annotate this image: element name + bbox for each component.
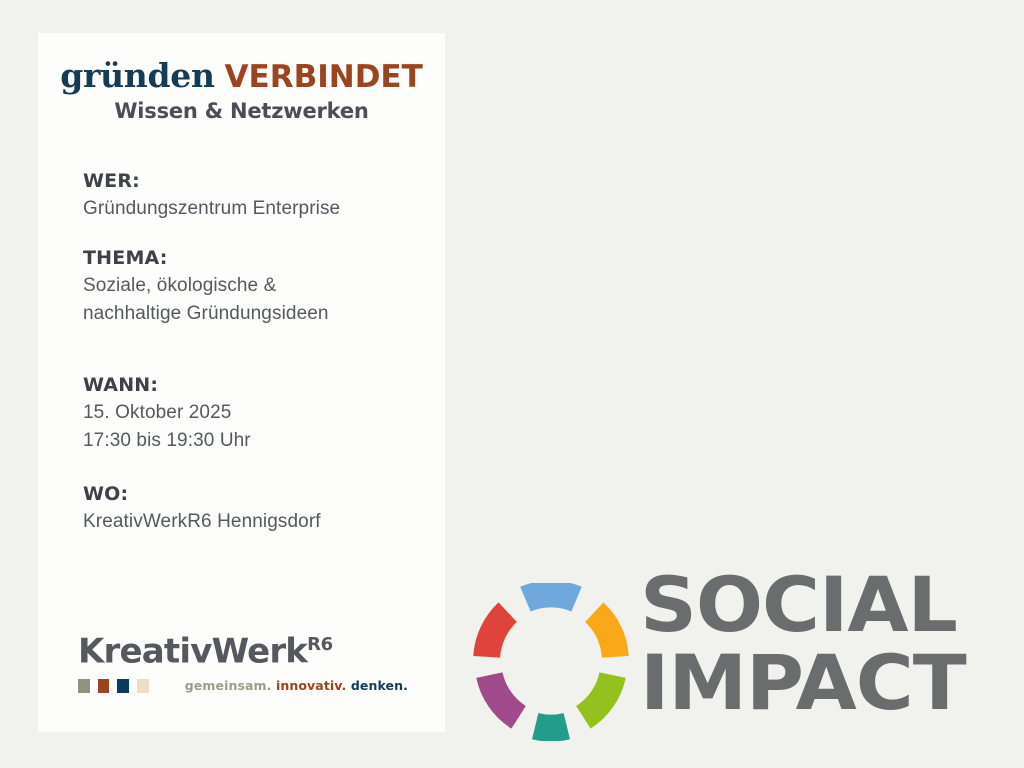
- detail-label-wo: WO:: [83, 481, 433, 507]
- detail-block-wo: WO: KreativWerkR6 Hennigsdorf: [83, 481, 433, 536]
- color-swatch-rust: [98, 679, 110, 693]
- donut-segment-red: [487, 612, 508, 657]
- event-details-list: WER: Gründungszentrum Enterprise THEMA: …: [83, 168, 433, 562]
- social-impact-line-impact: IMPACT: [640, 646, 1024, 720]
- donut-segment-teal: [535, 726, 567, 728]
- slide-canvas: gründen VERBINDET Wissen & Netzwerken WE…: [0, 0, 1024, 768]
- detail-block-wer: WER: Gründungszentrum Enterprise: [83, 168, 433, 223]
- detail-label-wann: WANN:: [83, 372, 433, 398]
- detail-block-wann: WANN: 15. Oktober 2025 17:30 bis 19:30 U…: [83, 372, 433, 455]
- detail-line: Soziale, ökologische &: [83, 272, 433, 300]
- kreativwerk-wordmark-text: KreativWerk: [78, 631, 307, 671]
- flyer-card: gründen VERBINDET Wissen & Netzwerken WE…: [38, 33, 445, 732]
- detail-label-wer: WER:: [83, 168, 433, 194]
- tagline-part-innovativ: innovativ.: [276, 678, 346, 693]
- kreativwerk-color-strip: gemeinsam. innovativ. denken.: [78, 679, 408, 693]
- color-swatch-cream: [137, 679, 149, 693]
- color-swatch-navy: [117, 679, 129, 693]
- color-swatch-sage: [78, 679, 90, 693]
- detail-value-wann: 15. Oktober 2025 17:30 bis 19:30 Uhr: [83, 399, 433, 455]
- donut-segment-green: [583, 675, 612, 717]
- detail-line: Gründungszentrum Enterprise: [83, 195, 433, 223]
- kreativwerk-wordmark: KreativWerkR6: [78, 625, 408, 671]
- donut-segment-blue: [525, 594, 576, 599]
- kreativwerk-superscript-r6: R6: [307, 634, 333, 655]
- donut-segment-purple: [489, 675, 518, 717]
- donut-segment-orange: [594, 612, 615, 657]
- social-impact-logo: SOCIAL IMPACT: [462, 560, 1024, 768]
- detail-block-thema: THEMA: Soziale, ökologische & nachhaltig…: [83, 245, 433, 328]
- detail-value-thema: Soziale, ökologische & nachhaltige Gründ…: [83, 272, 433, 328]
- flyer-brand-header: gründen VERBINDET Wissen & Netzwerken: [38, 57, 445, 124]
- tagline-part-denken: denken.: [351, 678, 408, 693]
- brand-word-gruenden: gründen: [60, 56, 214, 95]
- detail-line: 17:30 bis 19:30 Uhr: [83, 427, 433, 455]
- kreativwerk-tagline: gemeinsam. innovativ. denken.: [185, 679, 408, 693]
- social-impact-line-social: SOCIAL: [640, 568, 1024, 642]
- social-impact-wordmark: SOCIAL IMPACT: [640, 568, 1024, 720]
- brand-logotype: gründen VERBINDET: [38, 57, 445, 96]
- detail-line: 15. Oktober 2025: [83, 399, 433, 427]
- detail-line: KreativWerkR6 Hennigsdorf: [83, 508, 433, 536]
- brand-word-verbindet: VERBINDET: [225, 59, 423, 95]
- detail-value-wo: KreativWerkR6 Hennigsdorf: [83, 508, 433, 536]
- brand-subtitle: Wissen & Netzwerken: [38, 98, 445, 124]
- social-impact-donut-icon: [472, 583, 630, 741]
- detail-label-thema: THEMA:: [83, 245, 433, 271]
- kreativwerk-logo: KreativWerkR6 gemeinsam. innovativ. denk…: [78, 625, 408, 693]
- detail-line: nachhaltige Gründungsideen: [83, 300, 433, 328]
- detail-value-wer: Gründungszentrum Enterprise: [83, 195, 433, 223]
- tagline-part-gemeinsam: gemeinsam.: [185, 678, 272, 693]
